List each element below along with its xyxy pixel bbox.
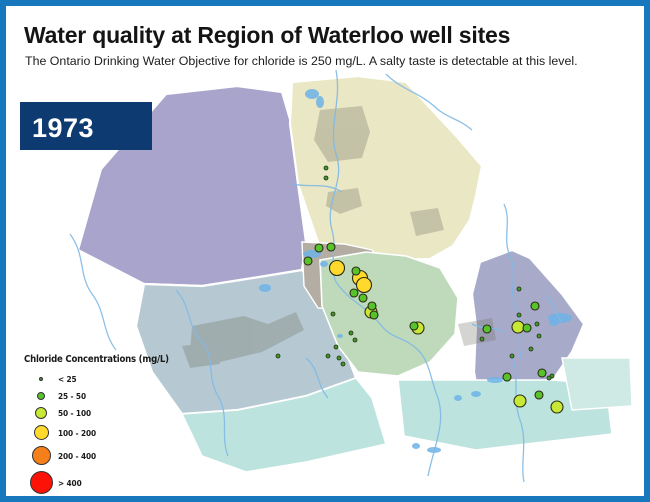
well-point[interactable] [331, 312, 335, 316]
year-label: 1973 [32, 113, 94, 144]
well-point[interactable] [483, 325, 491, 333]
page-subtitle: The Ontario Drinking Water Objective for… [25, 54, 578, 68]
well-point[interactable] [512, 321, 524, 333]
well-point[interactable] [531, 302, 539, 310]
well-point[interactable] [327, 243, 335, 251]
well-point[interactable] [304, 257, 312, 265]
legend-label-4: 200 - 400 [58, 451, 96, 461]
well-point[interactable] [349, 331, 353, 335]
legend-swatch-cell [24, 377, 58, 381]
legend-swatch-4 [32, 446, 51, 465]
well-point[interactable] [370, 311, 378, 319]
legend-row: < 25 [24, 370, 169, 387]
page-title: Water quality at Region of Waterloo well… [24, 22, 510, 49]
well-point[interactable] [368, 302, 376, 310]
legend-title: Chloride Concentrations (mg/L) [24, 354, 169, 365]
poster-inner: Water quality at Region of Waterloo well… [6, 6, 644, 496]
well-point[interactable] [324, 166, 328, 170]
legend-label-3: 100 - 200 [58, 428, 96, 438]
well-point[interactable] [480, 337, 484, 341]
well-point[interactable] [341, 362, 345, 366]
well-point[interactable] [537, 334, 541, 338]
well-point[interactable] [350, 289, 358, 297]
well-point[interactable] [352, 267, 360, 275]
well-point[interactable] [276, 354, 280, 358]
well-point[interactable] [315, 244, 323, 252]
well-point[interactable] [353, 338, 357, 342]
well-point[interactable] [503, 373, 511, 381]
well-point[interactable] [529, 347, 533, 351]
well-point[interactable] [517, 313, 521, 317]
poster-frame: Water quality at Region of Waterloo well… [0, 0, 650, 502]
legend-swatch-3 [34, 425, 49, 440]
legend-swatch-2 [35, 407, 47, 419]
well-point[interactable] [359, 294, 367, 302]
well-point[interactable] [324, 176, 328, 180]
well-point[interactable] [523, 324, 531, 332]
well-point[interactable] [535, 391, 543, 399]
municipality-east-sliver[interactable] [562, 358, 632, 410]
legend-row: 25 - 50 [24, 387, 169, 404]
legend-label-5: > 400 [58, 478, 82, 488]
legend-swatch-0 [39, 377, 43, 381]
well-point[interactable] [410, 322, 418, 330]
well-point[interactable] [547, 376, 551, 380]
legend-swatch-cell [24, 392, 58, 400]
legend-row: 50 - 100 [24, 404, 169, 422]
legend-label-2: 50 - 100 [58, 408, 91, 418]
well-point[interactable] [538, 369, 546, 377]
well-point[interactable] [517, 287, 521, 291]
legend-rows: < 2525 - 5050 - 100100 - 200200 - 400> 4… [24, 370, 169, 496]
well-point[interactable] [337, 356, 341, 360]
map-legend: Chloride Concentrations (mg/L) < 2525 - … [24, 354, 169, 496]
well-point[interactable] [510, 354, 514, 358]
legend-swatch-cell [24, 407, 58, 419]
legend-label-1: 25 - 50 [58, 391, 86, 401]
legend-swatch-cell [24, 425, 58, 440]
well-point[interactable] [551, 401, 563, 413]
well-point[interactable] [334, 345, 338, 349]
well-point[interactable] [326, 354, 330, 358]
legend-swatch-1 [37, 392, 45, 400]
legend-row: 100 - 200 [24, 422, 169, 443]
legend-label-0: < 25 [58, 374, 77, 384]
well-point[interactable] [357, 278, 372, 293]
legend-row: > 400 [24, 468, 169, 496]
legend-row: 200 - 400 [24, 443, 169, 468]
well-point[interactable] [330, 261, 345, 276]
well-point[interactable] [514, 395, 526, 407]
well-point[interactable] [535, 322, 539, 326]
legend-swatch-5 [30, 471, 53, 494]
legend-swatch-cell [24, 471, 58, 494]
legend-swatch-cell [24, 446, 58, 465]
